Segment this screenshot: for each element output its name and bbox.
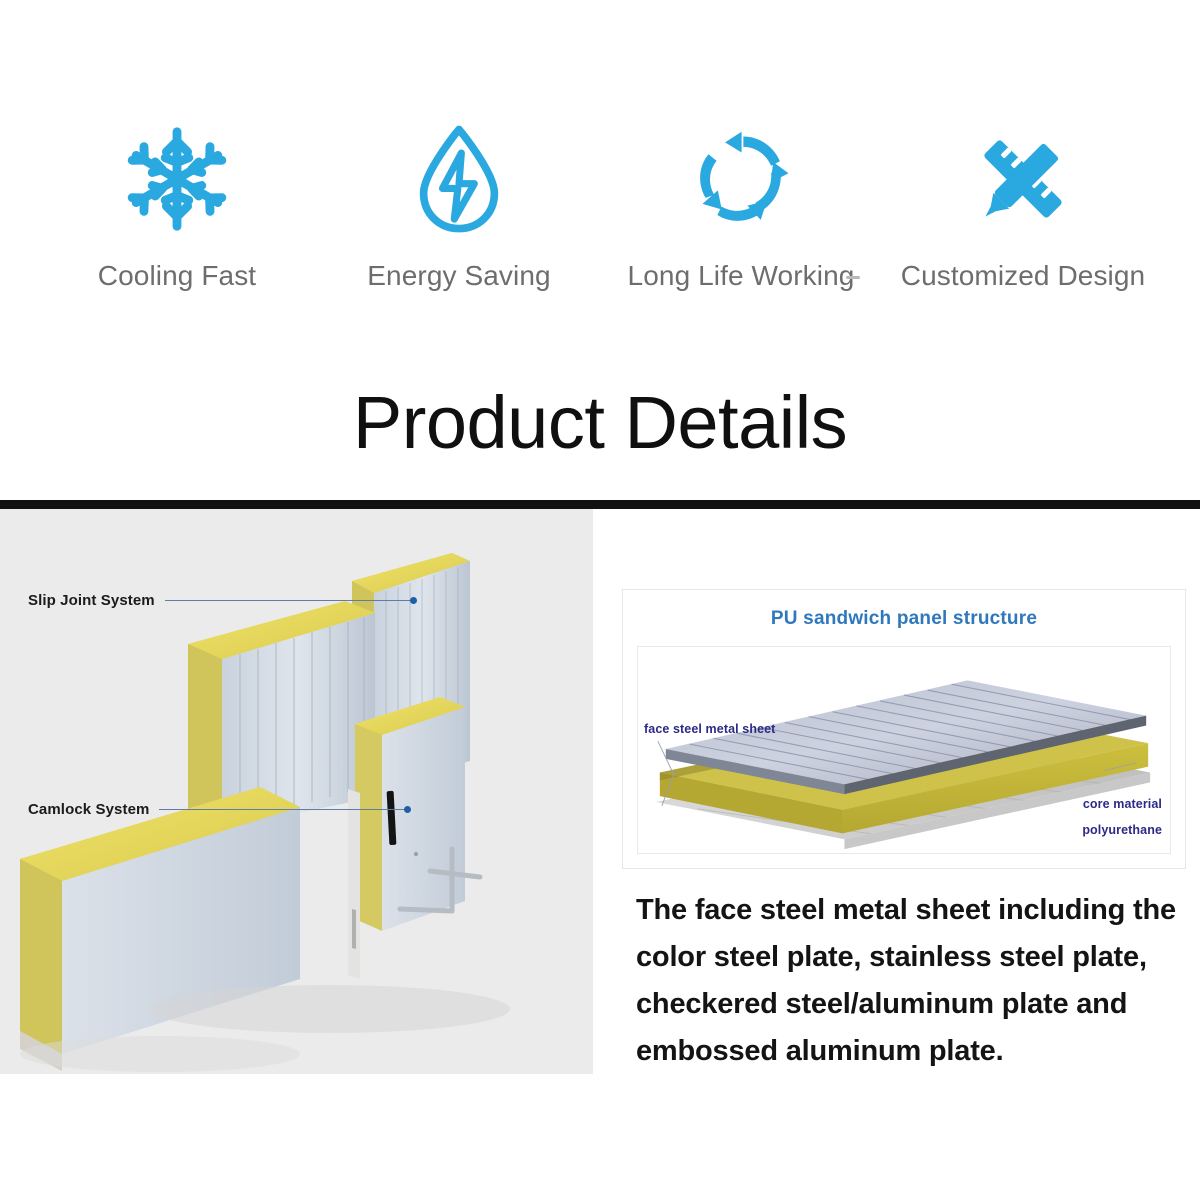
feature-strip: Cooling Fast Energy Saving [0,0,1200,498]
panel-pu-sandwich-diagram: PU sandwich panel structure [622,589,1186,869]
recycle-arrows-icon [680,118,802,240]
diagram-label-face-steel-metal-sheet: face steel metal sheet [644,722,775,736]
feature-customized-design[interactable]: Customized Design [894,118,1152,292]
feature-label: Customized Design [901,260,1145,292]
callout-leader-line [159,809,407,810]
callout-camlock-system: Camlock System [28,801,411,818]
callout-label: Slip Joint System [28,592,155,609]
description-paragraph: The face steel metal sheet including the… [636,887,1184,1075]
panel-photo-slip-joint-camlock: Slip Joint System Camlock System [0,509,593,1074]
callout-dot [410,597,417,604]
feature-separator-dash [846,276,860,279]
feature-label: Energy Saving [367,260,550,292]
diagram-label-core-material: core material [1083,797,1162,811]
diagram-label-polyurethane: polyurethane [1082,823,1162,837]
feature-long-life-working[interactable]: Long Life Working [612,118,870,292]
feature-energy-saving[interactable]: Energy Saving [330,118,588,292]
water-drop-lightning-icon [398,118,520,240]
detail-body: Slip Joint System Camlock System PU sand… [0,509,1200,1200]
callout-dot [404,806,411,813]
page-title: Product Details [0,386,1200,460]
callout-label: Camlock System [28,801,149,818]
diagram-frame: face steel metal sheet core material pol… [637,646,1171,854]
callout-slip-joint-system: Slip Joint System [28,592,417,609]
diagram-title: PU sandwich panel structure [623,608,1185,630]
ruler-pencil-icon [962,118,1084,240]
feature-label: Cooling Fast [98,260,256,292]
feature-label: Long Life Working [628,260,855,292]
callout-leader-line [165,600,413,601]
feature-row: Cooling Fast Energy Saving [0,118,1200,318]
section-divider [0,500,1200,509]
feature-cooling-fast[interactable]: Cooling Fast [48,118,306,292]
snowflake-icon [116,118,238,240]
